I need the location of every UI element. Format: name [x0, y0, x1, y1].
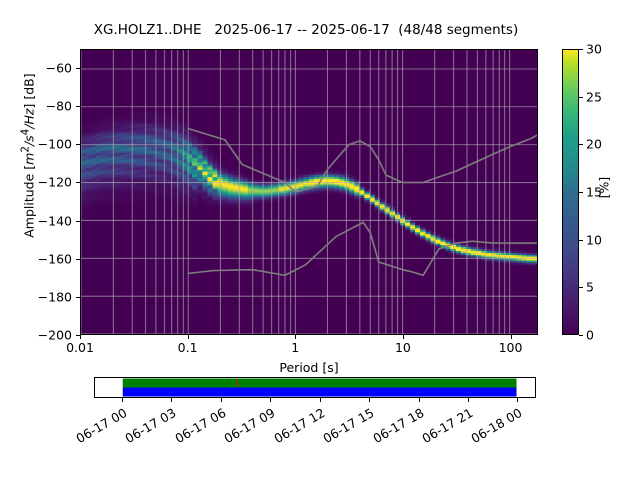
y-tick-mark	[76, 106, 80, 107]
x-axis-label: Period [s]	[80, 360, 538, 375]
x-tick-mark	[403, 335, 404, 339]
colorbar-tick-mark	[579, 192, 583, 193]
x-tick-mark	[80, 335, 81, 339]
y-tick-mark	[76, 68, 80, 69]
coverage-bar-canvas	[95, 378, 535, 397]
ppsd-figure: XG.HOLZ1..DHE 2025-06-17 -- 2025-06-17 (…	[0, 0, 640, 480]
colorbar-tick-mark	[579, 97, 583, 98]
colorbar-tick-label: 25	[586, 89, 602, 104]
ppsd-density-canvas	[81, 50, 537, 334]
page-title: XG.HOLZ1..DHE 2025-06-17 -- 2025-06-17 (…	[0, 22, 612, 38]
timeline-tick-label: 06-18 00	[464, 405, 525, 449]
y-tick-label: −100	[12, 137, 72, 152]
colorbar-tick-label: 10	[586, 232, 602, 247]
x-tick-label: 10	[395, 340, 411, 355]
timeline-tick-mark	[419, 398, 420, 402]
colorbar-label: [%]	[597, 168, 612, 208]
x-tick-label: 100	[499, 340, 523, 355]
colorbar-tick-mark	[579, 144, 583, 145]
timeline-tick-label: 06-17 03	[118, 405, 179, 449]
timeline-tick-label: 06-17 12	[266, 405, 327, 449]
y-tick-mark	[76, 297, 80, 298]
timeline-tick-mark	[517, 398, 518, 402]
timeline-tick-mark	[320, 398, 321, 402]
y-tick-mark	[76, 144, 80, 145]
y-tick-label: −160	[12, 251, 72, 266]
timeline-tick-label: 06-17 18	[365, 405, 426, 449]
colorbar-tick-label: 20	[586, 137, 602, 152]
colorbar-tick-mark	[579, 49, 583, 50]
y-tick-label: −180	[12, 289, 72, 304]
timeline-tick-label: 06-17 09	[216, 405, 277, 449]
x-tick-label: 0.1	[178, 340, 198, 355]
timeline-tick-mark	[221, 398, 222, 402]
colorbar-tick-mark	[579, 335, 583, 336]
ppsd-plot-area[interactable]	[80, 49, 538, 335]
y-tick-mark	[76, 221, 80, 222]
y-tick-label: −60	[12, 61, 72, 76]
x-tick-mark	[188, 335, 189, 339]
colorbar-tick-label: 30	[586, 42, 602, 57]
y-tick-mark	[76, 259, 80, 260]
x-tick-mark	[511, 335, 512, 339]
y-tick-label: −140	[12, 213, 72, 228]
y-tick-mark	[76, 182, 80, 183]
x-tick-mark	[295, 335, 296, 339]
colorbar-tick-mark	[579, 287, 583, 288]
y-tick-label: −120	[12, 175, 72, 190]
timeline-tick-mark	[122, 398, 123, 402]
coverage-timeline[interactable]	[94, 377, 536, 398]
x-tick-label: 0.01	[66, 340, 94, 355]
timeline-tick-mark	[468, 398, 469, 402]
y-tick-label: −200	[12, 328, 72, 343]
timeline-tick-label: 06-17 15	[315, 405, 376, 449]
timeline-tick-mark	[171, 398, 172, 402]
y-tick-label: −80	[12, 99, 72, 114]
colorbar-tick-label: 5	[586, 280, 594, 295]
colorbar-tick-label: 0	[586, 328, 594, 343]
timeline-tick-mark	[270, 398, 271, 402]
timeline-tick-mark	[369, 398, 370, 402]
x-tick-label: 1	[291, 340, 299, 355]
colorbar	[562, 49, 579, 335]
colorbar-tick-mark	[579, 240, 583, 241]
